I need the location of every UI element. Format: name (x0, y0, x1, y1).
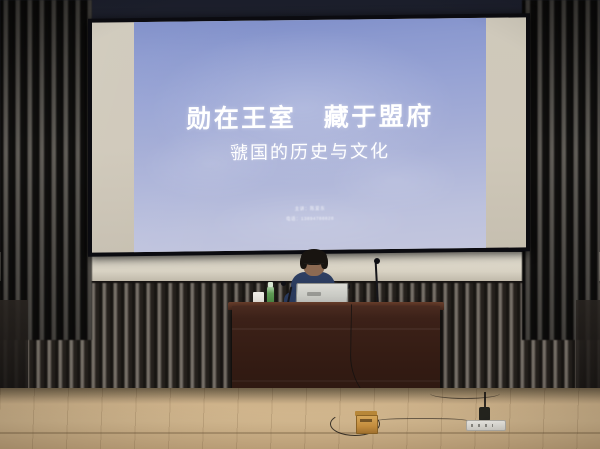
microphone-head-tall (374, 258, 380, 264)
microphone-head-left (281, 281, 286, 286)
projected-slide: 勋在王室 藏于盟府 虢国的历史与文化 主讲：陈爱东 电话：13894788828 (134, 18, 486, 252)
power-adapter (479, 407, 490, 421)
slide-title: 勋在王室 藏于盟府 (134, 96, 486, 136)
stage-object-right (576, 300, 600, 392)
slide-subtitle: 虢国的历史与文化 (134, 136, 486, 166)
stage-object-left (0, 300, 28, 392)
speaker-glasses (304, 263, 324, 268)
power-box (356, 415, 378, 434)
cable-run-right (430, 388, 500, 399)
lecture-hall-photo: 勋在王室 藏于盟府 虢国的历史与文化 主讲：陈爱东 电话：13894788828 (0, 0, 600, 449)
projection-screen-surface: 勋在王室 藏于盟府 虢国的历史与文化 主讲：陈爱东 电话：13894788828 (92, 17, 526, 252)
curtain-shading-right (522, 0, 600, 340)
water-bottle-cap (268, 282, 273, 287)
slide-presenter-line: 主讲：陈爱东 (134, 204, 486, 214)
laptop-logo (307, 292, 321, 296)
projection-screen-frame: 勋在王室 藏于盟府 虢国的历史与文化 主讲：陈爱东 电话：13894788828 (88, 13, 530, 256)
slide-contact-line: 电话：13894788828 (134, 214, 486, 224)
curtain-shading-left (0, 0, 92, 340)
stage-curtain-right (522, 0, 600, 340)
floor-plank-seam (0, 432, 600, 434)
cable-run-floor (372, 418, 472, 428)
power-strip (466, 420, 506, 431)
floor-shadow (0, 388, 600, 404)
stage-curtain-left (0, 0, 92, 340)
power-box-slot (360, 419, 372, 422)
power-strip-sockets (471, 424, 493, 427)
